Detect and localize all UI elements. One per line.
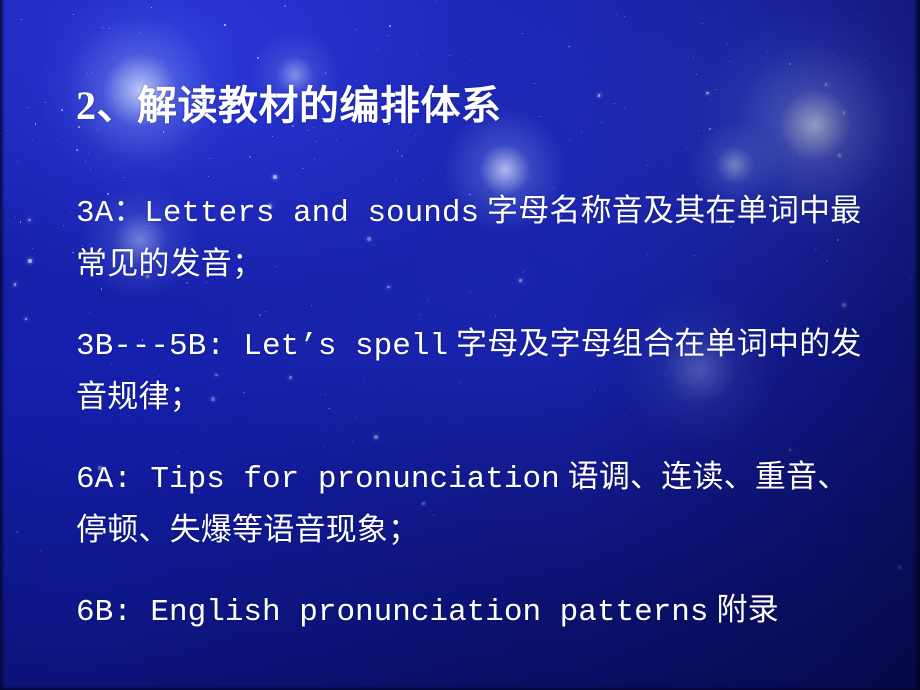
body-line-3a: 3A：Letters and sounds 字母名称音及其在单词中最常见的发音； xyxy=(76,186,866,289)
line-6a-code: 6A: xyxy=(76,462,132,497)
line-3b-5b-english: Let’s spell xyxy=(225,329,448,364)
line-6b-chinese: 附录 xyxy=(709,592,779,627)
body-line-6b: 6B: English pronunciation patterns 附录 xyxy=(76,585,866,638)
line-3b-5b-code: 3B---5B: xyxy=(76,329,225,364)
line-6b-english: English pronunciation patterns xyxy=(132,595,709,630)
line-6a-english: Tips for pronunciation xyxy=(132,462,560,497)
line-3a-code: 3A： xyxy=(76,196,144,231)
body-line-3b-5b: 3B---5B: Let’s spell 字母及字母组合在单词中的发音规律； xyxy=(76,319,866,422)
line-3a-english: Letters and sounds xyxy=(144,196,479,231)
presentation-slide: 2、解读教材的编排体系 3A：Letters and sounds 字母名称音及… xyxy=(0,0,920,690)
slide-body: 3A：Letters and sounds 字母名称音及其在单词中最常见的发音；… xyxy=(76,186,866,638)
body-line-6a: 6A: Tips for pronunciation 语调、连读、重音、停顿、失… xyxy=(76,452,866,555)
slide-content: 2、解读教材的编排体系 3A：Letters and sounds 字母名称音及… xyxy=(0,0,920,690)
slide-title: 2、解读教材的编排体系 xyxy=(76,84,502,129)
line-6b-code: 6B: xyxy=(76,595,132,630)
